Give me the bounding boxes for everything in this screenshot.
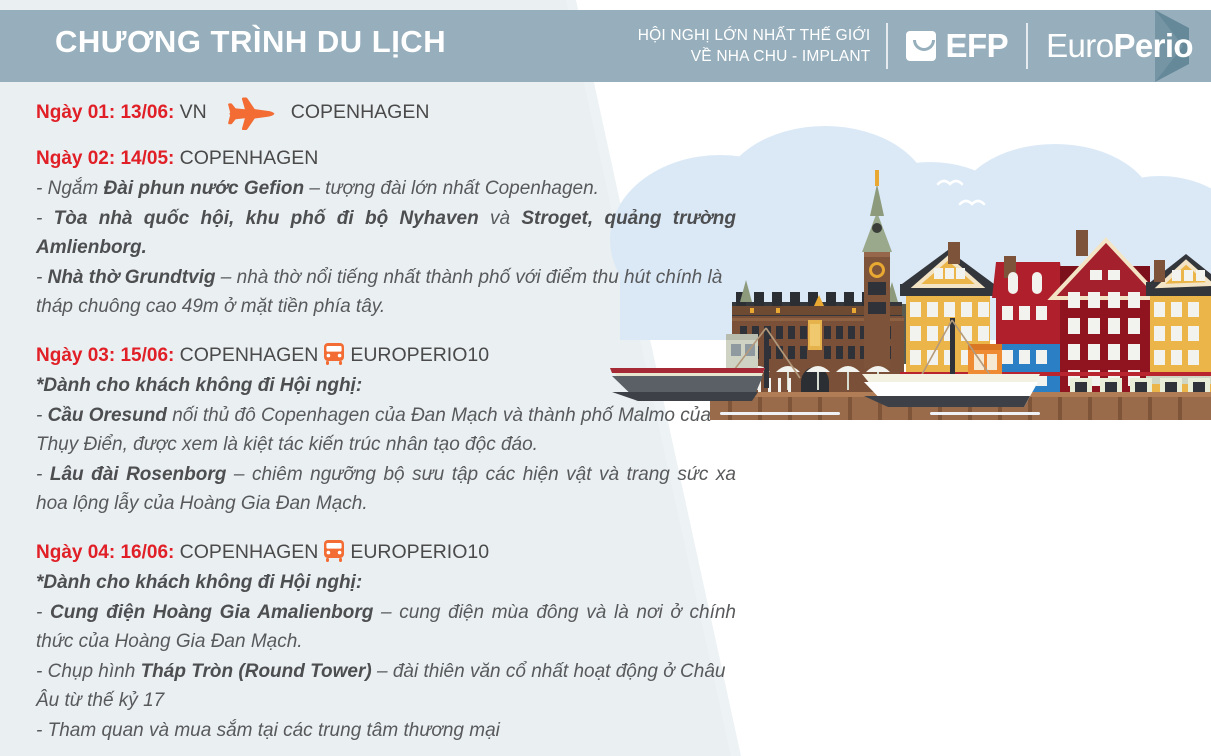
efp-logo: EFP (888, 27, 1026, 65)
itinerary-detail-line: - Chụp hình Tháp Tròn (Round Tower) – đà… (36, 657, 736, 716)
itinerary-day-note: *Dành cho khách không đi Hội nghị: (36, 568, 820, 598)
itinerary-detail-line: - Cung điện Hoàng Gia Amalienborg – cung… (36, 598, 736, 657)
header-banner: CHƯƠNG TRÌNH DU LỊCH HỘI NGHỊ LỚN NHẤT T… (0, 10, 1211, 82)
itinerary-day-header: Ngày 04: 16/06: COPENHAGENEUROPERIO10 (36, 537, 820, 568)
itinerary-day-header: Ngày 03: 15/06: COPENHAGENEUROPERIO10 (36, 340, 820, 371)
itinerary-origin: VN (180, 101, 207, 123)
conference-tagline-line2: VỀ NHA CHU - IMPLANT (638, 46, 871, 67)
itinerary-day-block: Ngày 04: 16/06: COPENHAGENEUROPERIO10*Dà… (36, 537, 820, 756)
itinerary-day-label: Ngày 02: 14/05: (36, 148, 174, 169)
itinerary-day-label: Ngày 03: 15/06: (36, 345, 174, 366)
itinerary-detail-line: - Tham quan và mua sắm tại các trung tâm… (36, 716, 736, 746)
itinerary-day-header: Ngày 02: 14/05: COPENHAGEN (36, 143, 820, 174)
itinerary-detail-line: - Cầu Oresund nối thủ đô Copenhagen của … (36, 401, 736, 460)
spacer (36, 322, 820, 336)
itinerary-origin: COPENHAGEN (180, 541, 319, 563)
smile-square-icon (906, 31, 936, 61)
itinerary-destination: EUROPERIO10 (350, 344, 489, 366)
itinerary-detail-line: - Lâu đài Rosenborg – chiêm ngưỡng bộ sư… (36, 460, 736, 519)
airplane-icon (221, 96, 277, 130)
conference-tagline: HỘI NGHỊ LỚN NHẤT THẾ GIỚI VỀ NHA CHU - … (638, 25, 887, 67)
itinerary-day-block: Ngày 03: 15/06: COPENHAGENEUROPERIO10*Dà… (36, 340, 820, 533)
spacer (36, 519, 820, 533)
itinerary-origin: COPENHAGEN (180, 147, 319, 169)
itinerary-day-note: *Dành cho khách không đi Hội nghị: (36, 371, 820, 401)
poster-page: CHƯƠNG TRÌNH DU LỊCH HỘI NGHỊ LỚN NHẤT T… (0, 0, 1211, 756)
bus-icon (323, 342, 345, 366)
itinerary-destination: COPENHAGEN (291, 101, 430, 123)
page-title: CHƯƠNG TRÌNH DU LỊCH (55, 24, 446, 60)
itinerary-day-block: Ngày 01: 13/06: VNCOPENHAGEN (36, 96, 820, 139)
itinerary-detail-line: - Tòa nhà quốc hội, khu phố đi bộ Nyhave… (36, 204, 736, 263)
spacer (36, 130, 820, 139)
itinerary-origin: COPENHAGEN (180, 344, 319, 366)
itinerary-destination: EUROPERIO10 (350, 541, 489, 563)
efp-logo-text: EFP (945, 27, 1008, 65)
banner-right-group: HỘI NGHỊ LỚN NHẤT THẾ GIỚI VỀ NHA CHU - … (638, 16, 1193, 76)
itinerary-list: Ngày 01: 13/06: VNCOPENHAGENNgày 02: 14/… (0, 96, 820, 756)
itinerary-detail-line: - Ngắm Đài phun nước Gefion – tượng đài … (36, 174, 736, 204)
europerio-logo: EuroPerio (1028, 27, 1193, 65)
itinerary-detail-line: - Nhà thờ Grundtvig – nhà thờ nổi tiếng … (36, 263, 736, 322)
conference-tagline-line1: HỘI NGHỊ LỚN NHẤT THẾ GIỚI (638, 25, 871, 46)
europerio-logo-bold: Perio (1113, 27, 1193, 64)
itinerary-day-label: Ngày 04: 16/06: (36, 542, 174, 563)
europerio-logo-light: Euro (1046, 27, 1113, 64)
itinerary-day-label: Ngày 01: 13/06: (36, 102, 174, 123)
spacer (36, 745, 820, 756)
bus-icon (323, 539, 345, 563)
itinerary-day-block: Ngày 02: 14/05: COPENHAGEN- Ngắm Đài phu… (36, 143, 820, 336)
itinerary-day-header: Ngày 01: 13/06: VNCOPENHAGEN (36, 96, 820, 130)
